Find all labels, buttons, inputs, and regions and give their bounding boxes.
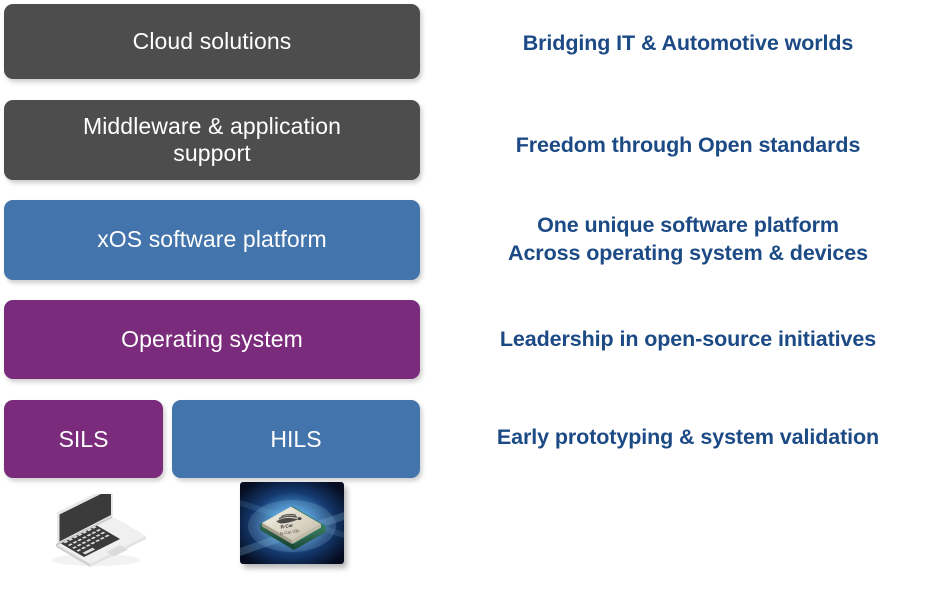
stack-layer-xos-software-platform[interactable]: xOS software platform (4, 200, 420, 280)
stack-layer-cloud-solutions[interactable]: Cloud solutions (4, 4, 420, 79)
laptop-icon (34, 494, 156, 570)
stack-layer-hils[interactable]: HILS (172, 400, 420, 478)
benefit-text-early-prototyping: Early prototyping & system validation (432, 424, 944, 452)
stack-layer-middleware-application-support[interactable]: Middleware & application support (4, 100, 420, 180)
benefit-text-bridging-it-automotive: Bridging IT & Automotive worlds (432, 30, 944, 58)
benefit-text-one-unique-software-platform: One unique software platform Across oper… (432, 212, 944, 268)
soc-chip-icon: R-Car R-Car V3x (240, 482, 344, 564)
stack-layer-label: Cloud solutions (119, 28, 306, 55)
benefit-text-leadership-open-source: Leadership in open-source initiatives (432, 326, 944, 354)
stack-layer-label: Middleware & application support (69, 113, 355, 167)
stack-layer-label: xOS software platform (83, 226, 341, 253)
stack-layer-label: SILS (45, 426, 123, 453)
stack-layer-label: Operating system (107, 326, 317, 353)
stack-layer-sils[interactable]: SILS (4, 400, 163, 478)
stack-layer-operating-system[interactable]: Operating system (4, 300, 420, 379)
slide-canvas: Cloud solutions Middleware & application… (0, 0, 950, 605)
stack-layer-label: HILS (256, 426, 335, 453)
benefit-text-freedom-open-standards: Freedom through Open standards (432, 132, 944, 160)
